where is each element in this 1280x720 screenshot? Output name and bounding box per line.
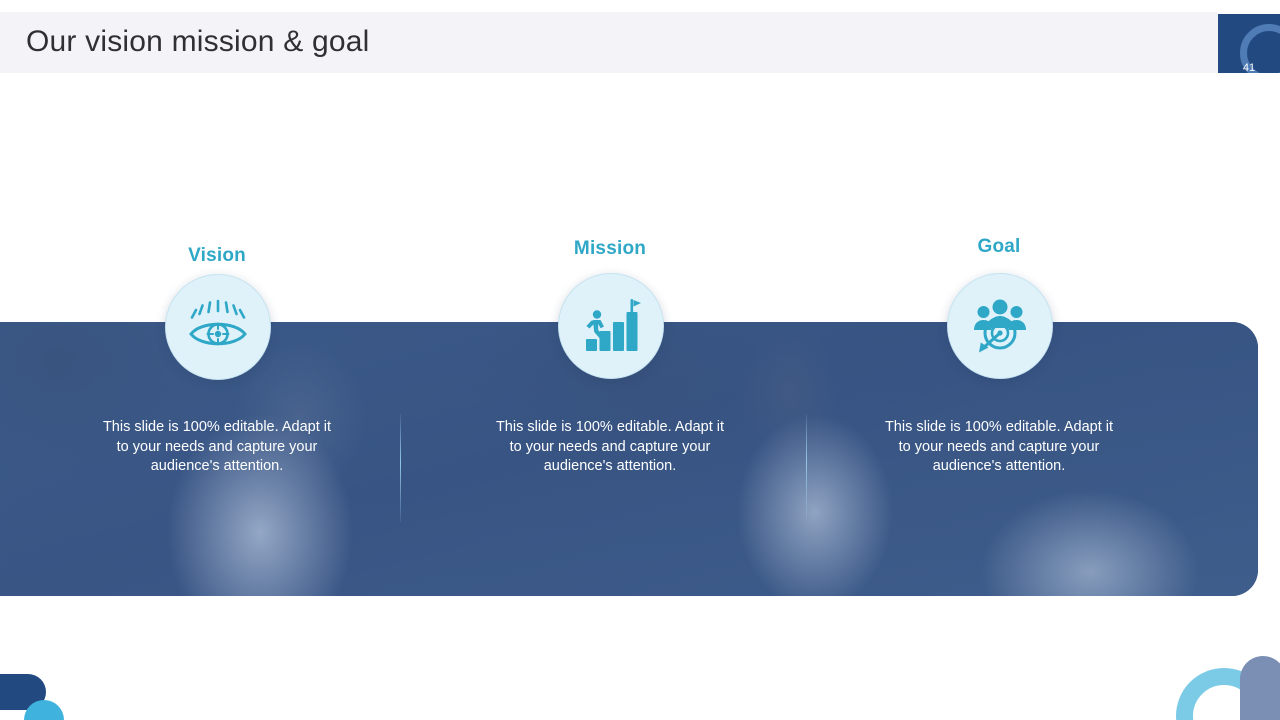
column-body-mission: This slide is 100% editable. Adapt it to…: [495, 418, 725, 477]
column-body-vision: This slide is 100% editable. Adapt it to…: [102, 418, 332, 477]
growth-chart-flag-icon: [558, 273, 664, 379]
column-heading-vision: Vision: [87, 245, 347, 267]
divider-vision-mission: [400, 414, 401, 522]
eye-icon: [165, 274, 271, 380]
page-title: Our vision mission & goal: [26, 25, 369, 59]
slide-canvas: Vision: [0, 0, 1280, 720]
column-heading-goal: Goal: [869, 236, 1129, 258]
page-number-badge: 41: [1218, 14, 1280, 73]
divider-mission-goal: [806, 414, 807, 522]
page-number-text: 41: [1218, 62, 1280, 73]
decoration-bottom-right-blob: [1240, 656, 1280, 720]
column-heading-mission: Mission: [480, 238, 740, 260]
column-body-goal: This slide is 100% editable. Adapt it to…: [884, 418, 1114, 477]
team-target-arrow-icon: [947, 273, 1053, 379]
